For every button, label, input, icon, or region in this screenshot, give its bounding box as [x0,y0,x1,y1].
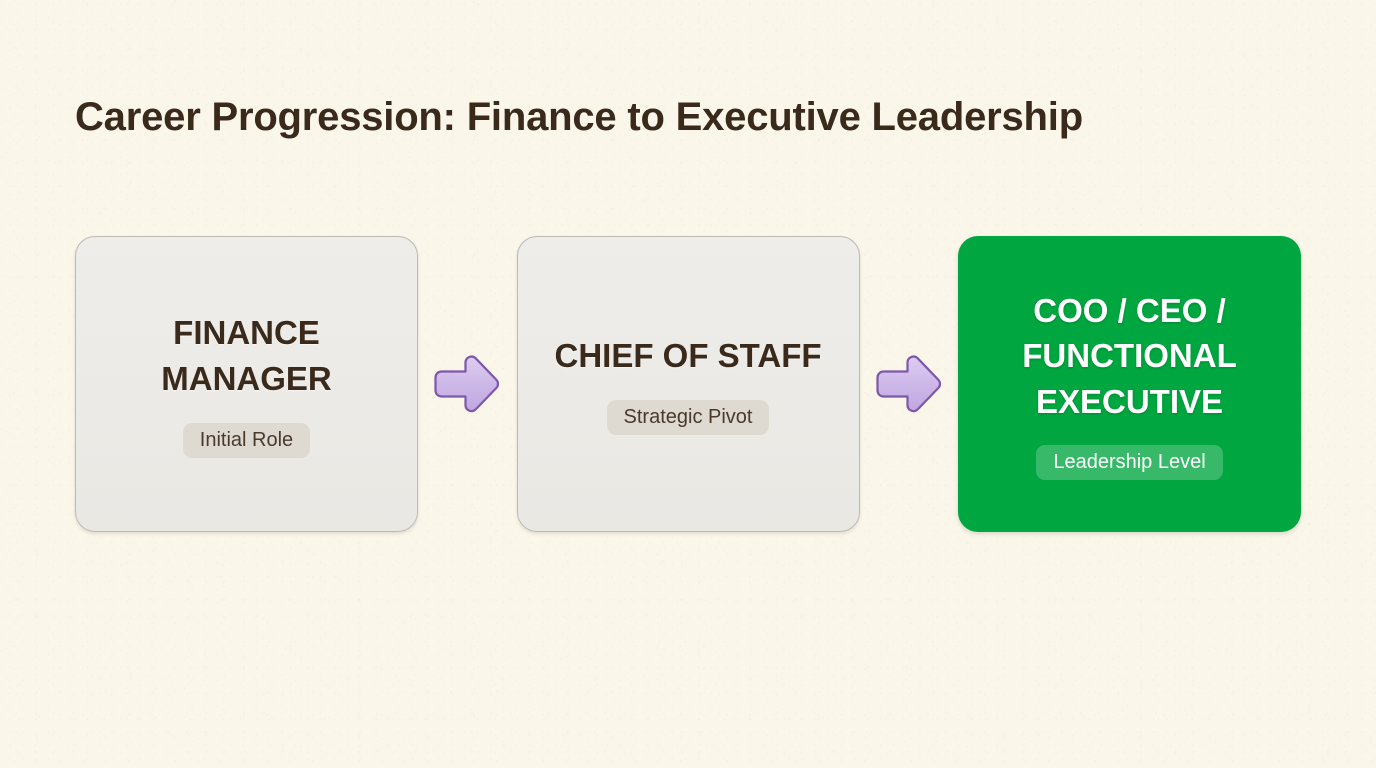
flow-step-badge: Leadership Level [1036,445,1222,480]
flow-step-badge: Initial Role [183,423,310,458]
flow-step-card-finance-manager[interactable]: FINANCE MANAGER Initial Role [75,236,418,532]
page-title: Career Progression: Finance to Executive… [75,95,1083,140]
flow-step-title: CHIEF OF STAFF [538,333,837,379]
flow-step-card-chief-of-staff[interactable]: CHIEF OF STAFF Strategic Pivot [517,236,860,532]
career-progression-flow: FINANCE MANAGER Initial Role CHIEF OF ST… [75,236,1301,532]
flow-step-badge: Strategic Pivot [607,400,770,435]
right-arrow-icon-2 [874,351,944,417]
flow-step-title: COO / CEO / FUNCTIONAL EXECUTIVE [958,288,1301,425]
right-arrow-icon-1 [432,351,502,417]
flow-step-card-executive[interactable]: COO / CEO / FUNCTIONAL EXECUTIVE Leaders… [958,236,1301,532]
flow-step-title: FINANCE MANAGER [76,310,417,401]
